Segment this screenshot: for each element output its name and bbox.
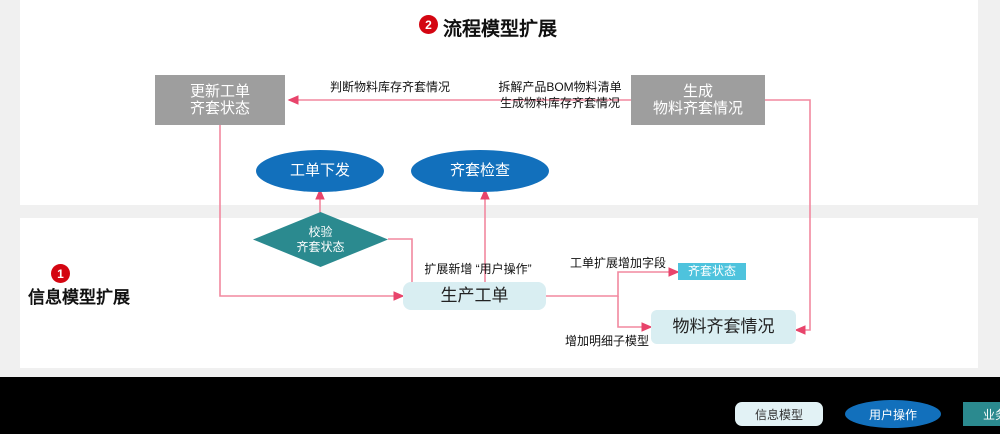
- legend-label: 用户操作: [869, 406, 917, 423]
- legend-label: 业务校验: [983, 406, 1000, 423]
- legend-item-user-action[interactable]: 用户操作: [845, 400, 941, 428]
- diagram-canvas: 2 流程模型扩展 1 信息模型扩展 更新工单 齐套状态 生成 物料齐套情况 工单…: [0, 0, 1000, 434]
- node-kitting-status-field[interactable]: 齐套状态: [678, 263, 746, 280]
- edge-label-extend-user-action: 扩展新增 “用户操作”: [418, 262, 538, 278]
- diamond-label-wrap: 校验 齐套状态: [253, 212, 388, 267]
- edge-label-bom-split: 拆解产品BOM物料清单 生成物料库存齐套情况: [490, 80, 630, 111]
- section-title-info-model: 信息模型扩展: [28, 283, 130, 308]
- section-badge-2: 2: [419, 15, 438, 34]
- node-line-1: 生成: [683, 83, 713, 100]
- node-label: 齐套检查: [450, 162, 510, 179]
- node-line-2: 物料齐套情况: [653, 100, 743, 117]
- edge-label-judge-stock: 判断物料库存齐套情况: [315, 80, 465, 96]
- section-title-process-model: 流程模型扩展: [443, 14, 557, 41]
- node-update-work-order-status[interactable]: 更新工单 齐套状态: [155, 75, 285, 125]
- node-label: 物料齐套情况: [673, 317, 775, 337]
- node-material-kitting-detail[interactable]: 物料齐套情况: [651, 310, 796, 344]
- legend-item-business-check[interactable]: 业务校验: [963, 402, 1000, 426]
- section-badge-1: 1: [51, 264, 70, 283]
- node-label: 工单下发: [290, 162, 350, 179]
- node-label: 生产工单: [441, 286, 509, 306]
- legend-item-info-model[interactable]: 信息模型: [735, 402, 823, 426]
- node-label: 齐套状态: [688, 265, 736, 279]
- node-work-order-release[interactable]: 工单下发: [256, 150, 384, 192]
- legend-label: 信息模型: [755, 406, 803, 423]
- edge-label-add-detail-submodel: 增加明细子模型: [557, 334, 657, 350]
- node-line-2: 齐套状态: [296, 240, 344, 254]
- node-line-2: 齐套状态: [190, 100, 250, 117]
- node-line-1: 校验: [296, 225, 344, 239]
- legend: 信息模型 用户操作 业务校验: [735, 400, 1000, 428]
- node-verify-kitting-status[interactable]: 校验 齐套状态: [253, 212, 388, 267]
- node-generate-material-kitting[interactable]: 生成 物料齐套情况: [631, 75, 765, 125]
- node-production-work-order[interactable]: 生产工单: [403, 282, 546, 310]
- node-line-1: 更新工单: [190, 83, 250, 100]
- node-kitting-check[interactable]: 齐套检查: [411, 150, 549, 192]
- edge-label-wo-extend-field: 工单扩展增加字段: [566, 256, 670, 272]
